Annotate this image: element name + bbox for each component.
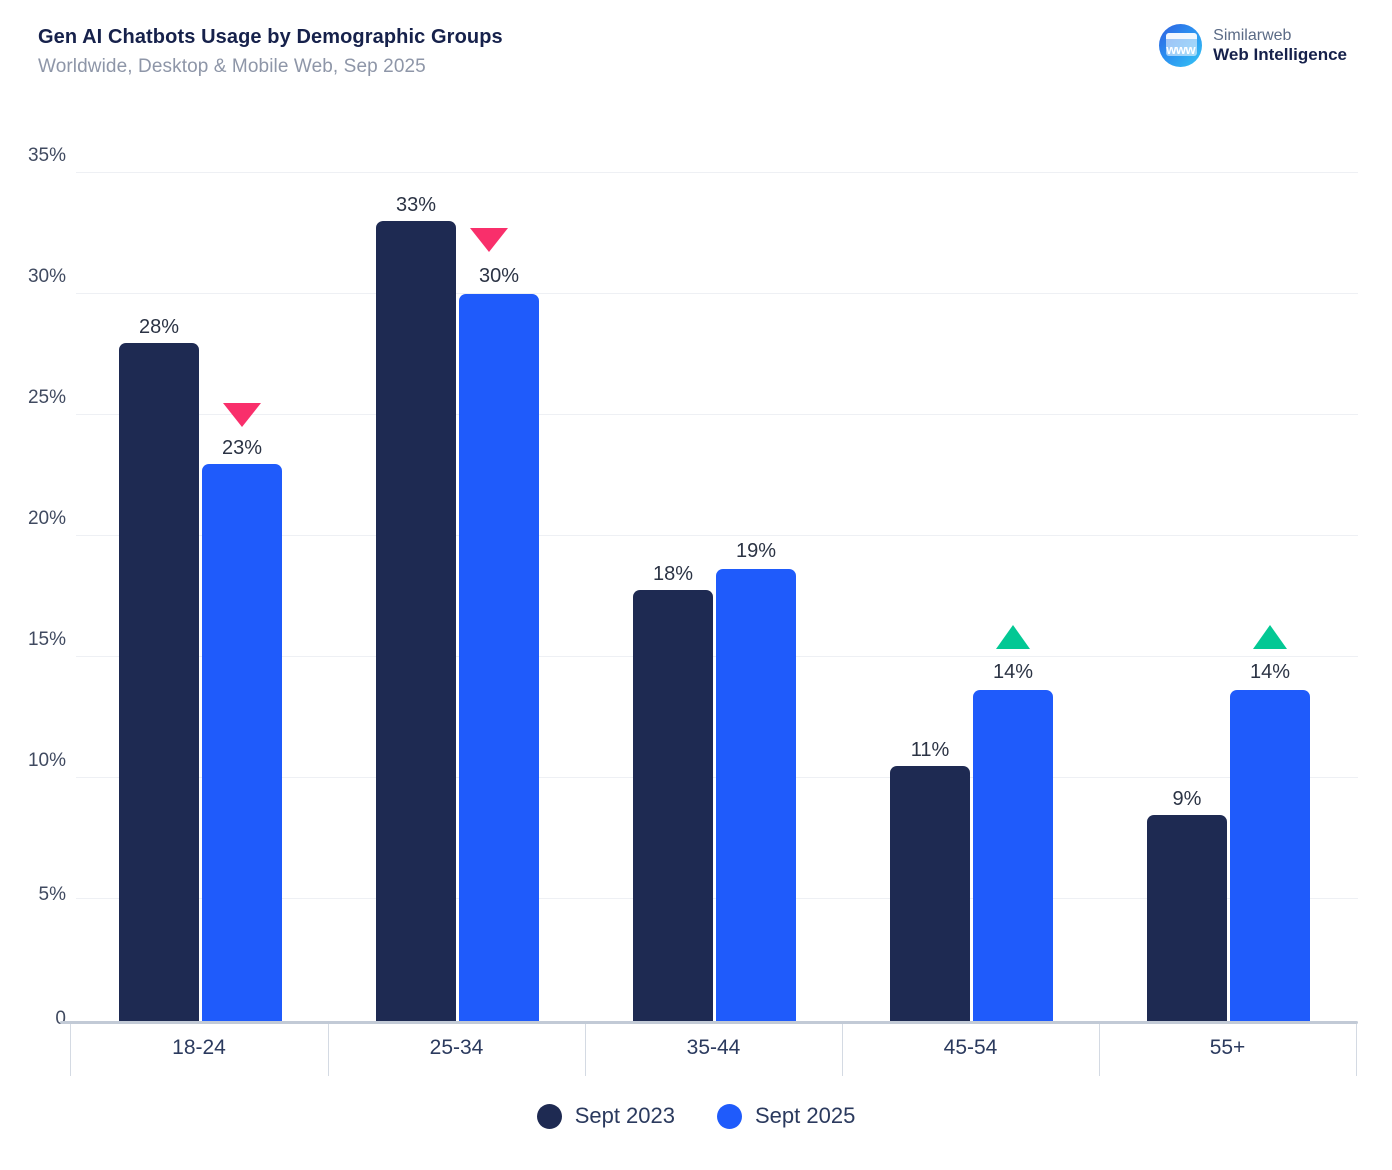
y-tick-25: 25% [8, 387, 66, 409]
legend-swatch-icon-sept-2023 [537, 1104, 562, 1129]
x-axis-label-35-44: 35-44 [585, 1036, 842, 1060]
chart-plot-area: 35% 30% 25% 20% 15% 10% 5% 0 28% 23% 33%… [0, 0, 1392, 1170]
bar-35-44-sept-2025[interactable] [716, 569, 796, 1021]
y-axis: 35% 30% 25% 20% 15% 10% 5% 0 [0, 0, 66, 1170]
legend-item-sept-2023[interactable]: Sept 2023 [537, 1103, 675, 1129]
bar-25-34-sept-2023[interactable] [376, 221, 456, 1021]
increase-indicator-icon-45-54 [996, 625, 1030, 649]
x-axis-line [60, 1021, 1358, 1024]
bar-label-25-34-sept-2023: 33% [366, 194, 466, 217]
chart-legend: Sept 2023 Sept 2025 [0, 1103, 1392, 1129]
x-axis-separator-5 [1356, 1024, 1357, 1076]
y-tick-5: 5% [8, 884, 66, 906]
bar-label-18-24-sept-2023: 28% [109, 316, 209, 339]
bar-45-54-sept-2023[interactable] [890, 766, 970, 1021]
legend-label-sept-2023: Sept 2023 [575, 1103, 675, 1129]
y-tick-0: 0 [8, 1008, 66, 1030]
gridline-35 [76, 172, 1358, 173]
bar-55plus-sept-2025[interactable] [1230, 690, 1310, 1021]
legend-swatch-icon-sept-2025 [717, 1104, 742, 1129]
legend-label-sept-2025: Sept 2025 [755, 1103, 855, 1129]
y-tick-20: 20% [8, 508, 66, 530]
chart-page: Gen AI Chatbots Usage by Demographic Gro… [0, 0, 1392, 1170]
y-tick-30: 30% [8, 266, 66, 288]
x-axis-label-45-54: 45-54 [842, 1036, 1099, 1060]
bar-45-54-sept-2025[interactable] [973, 690, 1053, 1021]
gridline-25 [76, 414, 1358, 415]
bar-label-18-24-sept-2025: 23% [192, 437, 292, 460]
y-tick-15: 15% [8, 629, 66, 651]
bar-35-44-sept-2023[interactable] [633, 590, 713, 1021]
bar-label-25-34-sept-2025: 30% [449, 265, 549, 288]
x-axis-label-25-34: 25-34 [328, 1036, 585, 1060]
bar-25-34-sept-2025[interactable] [459, 294, 539, 1021]
bar-label-35-44-sept-2023: 18% [623, 563, 723, 586]
decrease-indicator-icon-18-24 [223, 403, 261, 427]
gridline-30 [76, 293, 1358, 294]
bar-label-45-54-sept-2023: 11% [880, 739, 980, 762]
increase-indicator-icon-55plus [1253, 625, 1287, 649]
bar-18-24-sept-2023[interactable] [119, 343, 199, 1021]
x-axis-label-18-24: 18-24 [70, 1036, 328, 1060]
bar-18-24-sept-2025[interactable] [202, 464, 282, 1021]
bar-label-55plus-sept-2025: 14% [1220, 661, 1320, 684]
y-tick-10: 10% [8, 750, 66, 772]
bar-55plus-sept-2023[interactable] [1147, 815, 1227, 1021]
x-axis-label-55plus: 55+ [1099, 1036, 1356, 1060]
bar-label-35-44-sept-2025: 19% [706, 540, 806, 563]
bar-label-55plus-sept-2023: 9% [1137, 788, 1237, 811]
bar-label-45-54-sept-2025: 14% [963, 661, 1063, 684]
decrease-indicator-icon-25-34 [470, 228, 508, 252]
y-tick-35: 35% [8, 145, 66, 167]
legend-item-sept-2025[interactable]: Sept 2025 [717, 1103, 855, 1129]
